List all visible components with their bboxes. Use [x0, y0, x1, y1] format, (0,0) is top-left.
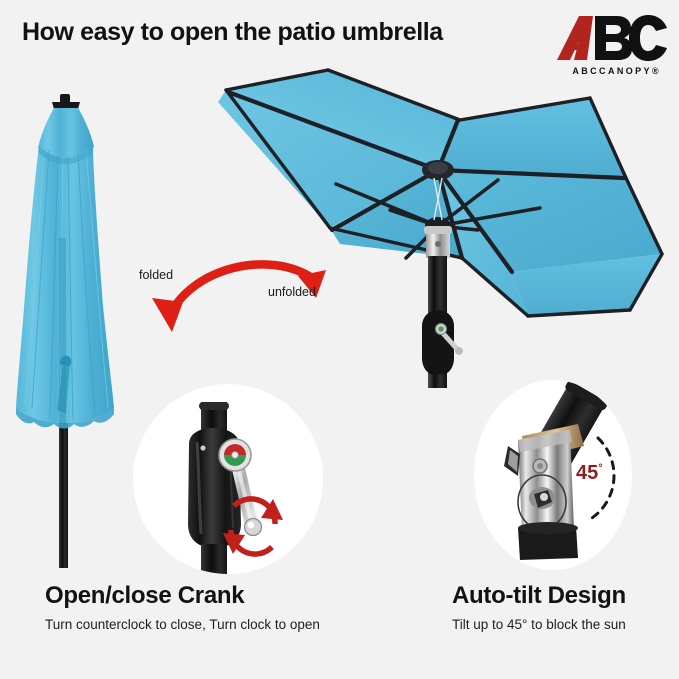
crank-caption-text: Turn counterclock to close, Turn clock t… [45, 617, 320, 632]
tilt-inset-circle [474, 380, 632, 570]
infographic-page: How easy to open the patio umbrella ABCC… [0, 0, 679, 679]
folded-umbrella-illustration [8, 88, 138, 568]
tilt-caption-heading: Auto-tilt Design [452, 582, 626, 610]
label-unfolded: unfolded [268, 285, 316, 299]
page-title: How easy to open the patio umbrella [22, 18, 443, 47]
crank-inset-circle [133, 384, 323, 574]
fold-unfold-arrow [130, 240, 360, 350]
tilt-angle-unit: ° [598, 462, 602, 474]
crank-caption-heading: Open/close Crank [45, 582, 320, 610]
tilt-angle-value: 45 [576, 462, 598, 484]
label-folded: folded [139, 268, 173, 282]
tilt-angle-label: 45° [576, 462, 603, 485]
crank-caption: Open/close Crank Turn counterclock to cl… [45, 582, 320, 632]
tilt-caption-text: Tilt up to 45° to block the sun [452, 617, 626, 632]
tilt-caption: Auto-tilt Design Tilt up to 45° to block… [452, 582, 626, 632]
